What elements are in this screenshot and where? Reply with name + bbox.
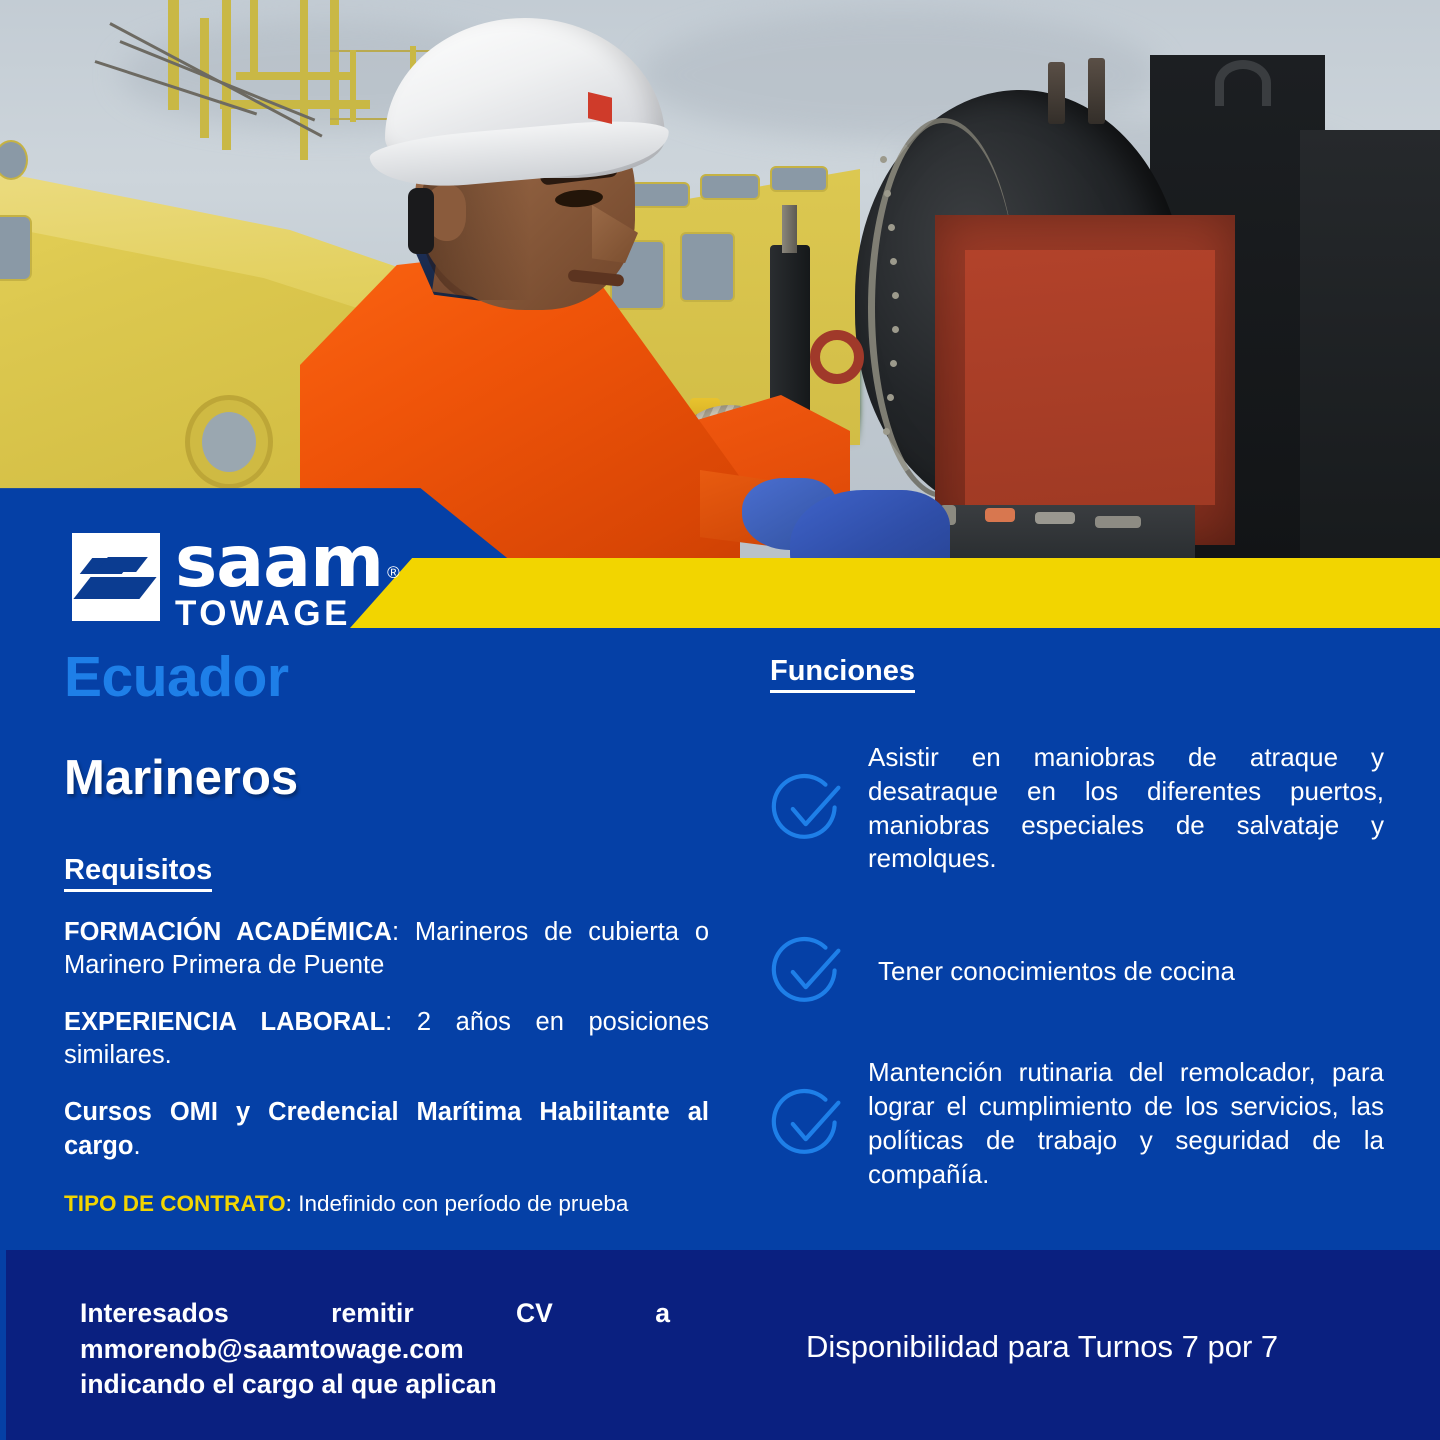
requirement-separator: : [392,918,415,946]
brand-subtitle: TOWAGE [175,594,400,634]
function-item: Asistir en maniobras de atraque y desatr… [770,741,1400,876]
requirement-item: EXPERIENCIA LABORAL: 2 años en posicione… [64,1006,709,1072]
contract-value: Indefinido con período de prueba [298,1191,628,1216]
requirement-item-courses: Cursos OMI y Credencial Marítima Habilit… [64,1096,709,1162]
railing-post [350,50,356,122]
saam-logo-mark [72,533,160,621]
pin [1048,62,1065,124]
console-lever [985,508,1015,522]
requirement-label: FORMACIÓN ACADÉMICA [64,918,392,946]
contract-separator: : [286,1191,299,1216]
contact-line-3: indicando el cargo al que aplican [80,1367,670,1403]
function-item: Mantención rutinaria del remolcador, par… [770,1056,1400,1191]
saam-towage-logo: saam ® TOWAGE [72,533,400,634]
requirement-item: FORMACIÓN ACADÉMICA: Marineros de cubier… [64,916,709,982]
contact-instructions: Interesados remitir CV a mmorenob@saamto… [80,1296,670,1403]
ear-protection [408,188,434,254]
console-lever [1035,512,1075,524]
yellow-accent-band [350,558,1440,628]
porthole [190,400,268,484]
right-column: Funciones Asistir en maniobras de atraqu… [770,655,1400,1191]
steel-frame [1300,130,1440,630]
contract-type-line: TIPO DE CONTRATO: Indefinido con período… [64,1191,714,1217]
requirement-separator: : [385,1008,417,1036]
registered-mark: ® [387,563,400,583]
courses-text: Cursos OMI y Credencial Marítima Habilit… [64,1098,709,1159]
contract-label: TIPO DE CONTRATO [64,1191,286,1216]
function-text: Asistir en maniobras de atraque y desatr… [868,741,1384,876]
check-circle-icon [770,1086,846,1162]
mast [300,0,308,160]
contact-line-1: Interesados remitir CV a [80,1296,670,1332]
red-box-inner [965,250,1215,505]
pin [1088,58,1105,124]
requirements-heading: Requisitos [64,854,212,892]
console-lever [1095,516,1141,528]
window [700,174,760,200]
courses-period: . [133,1132,140,1160]
availability-note: Disponibilidad para Turnos 7 por 7 [806,1328,1406,1365]
window [680,232,735,302]
requirement-label: EXPERIENCIA LABORAL [64,1008,385,1036]
function-text: Mantención rutinaria del remolcador, par… [868,1056,1384,1191]
function-text: Tener conocimientos de cocina [868,955,1384,989]
window [630,182,690,208]
footer-band: Interesados remitir CV a mmorenob@saamto… [6,1250,1440,1440]
check-circle-icon [770,771,846,847]
valve-wheel [810,330,864,384]
contact-email[interactable]: mmorenob@saamtowage.com [80,1332,670,1368]
left-column: Ecuador Marineros Requisitos FORMACIÓN A… [64,648,724,1217]
functions-heading: Funciones [770,655,915,693]
check-circle-icon [770,934,846,1010]
window [770,166,828,192]
country-title: Ecuador [64,648,724,708]
saam-logo-wordmark: saam ® TOWAGE [175,533,400,634]
mast [222,0,231,150]
window [0,215,32,281]
job-role-title: Marineros [64,750,724,806]
brand-name: saam [175,533,383,591]
function-item: Tener conocimientos de cocina [770,934,1400,1010]
hydraulic-rod [782,205,797,253]
lifting-hook [1215,60,1271,106]
mast [250,0,258,80]
job-posting-poster: saam ® TOWAGE Ecuador Marineros Requisit… [0,0,1440,1440]
